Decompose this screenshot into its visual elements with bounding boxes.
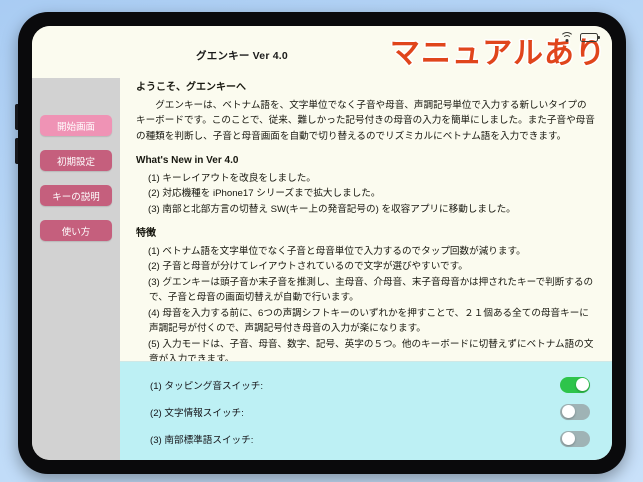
southern-standard-switch[interactable] (560, 431, 590, 447)
document-panel: ようこそ、グエンキーへ グエンキーは、ベトナム語を、文字単位でなく子音や母音、声… (120, 78, 612, 361)
whatsnew-list: (1) キーレイアウトを改良をしました。 (2) 対応機種を iPhone17 … (136, 171, 596, 218)
sidebar-item-key-description[interactable]: キーの説明 (40, 185, 112, 206)
wifi-icon (560, 32, 573, 42)
sidebar-item-start-screen[interactable]: 開始画面 (40, 115, 112, 136)
volume-up-button[interactable] (15, 104, 18, 130)
volume-down-button[interactable] (15, 138, 18, 164)
list-item: (3) 南部と北部方言の切替え SW(キー上の発音記号の) を収容アプリに移動し… (136, 202, 596, 218)
tapping-sound-switch[interactable] (560, 377, 590, 393)
switch-row: (2) 文字情報スイッチ: (134, 398, 598, 425)
whatsnew-heading: What's New in Ver 4.0 (136, 154, 596, 169)
ipad-device-frame: グエンキー Ver 4.0 マニュアルあり 開始画面 初期設定 キーの説明 使い… (18, 12, 626, 474)
sidebar-item-how-to-use[interactable]: 使い方 (40, 220, 112, 241)
app-body: 開始画面 初期設定 キーの説明 使い方 ようこそ、グエンキーへ グエンキーは、ベ… (32, 78, 612, 460)
list-item: (2) 対応機種を iPhone17 シリーズまで拡大しました。 (136, 186, 596, 202)
welcome-heading: ようこそ、グエンキーへ (136, 81, 596, 96)
list-item: (3) グエンキーは頭子音か末子音を推測し、主母音、介母音、末子音母音かは押され… (136, 275, 596, 306)
switch-panel: (1) タッピング音スイッチ: (2) 文字情報スイッチ: (3) 南部標準語ス… (120, 361, 612, 460)
list-item: (1) ベトナム語を文字単位でなく子音と母音単位で入力するのでタップ回数が減りま… (136, 244, 596, 260)
features-list: (1) ベトナム語を文字単位でなく子音と母音単位で入力するのでタップ回数が減りま… (136, 244, 596, 361)
switch-row: (1) タッピング音スイッチ: (134, 371, 598, 398)
tapping-sound-switch-label: (1) タッピング音スイッチ: (134, 378, 560, 392)
character-info-switch-label: (2) 文字情報スイッチ: (134, 405, 560, 419)
status-bar (32, 26, 612, 48)
welcome-body: グエンキーは、ベトナム語を、文字単位でなく子音や母音、声調記号単位で入力する新し… (136, 98, 596, 145)
list-item: (5) 入力モードは、子音、母音、数字、記号、英字の５つ。他のキーボードに切替え… (136, 337, 596, 361)
ipad-screen: グエンキー Ver 4.0 マニュアルあり 開始画面 初期設定 キーの説明 使い… (32, 26, 612, 460)
list-item: (4) 母音を入力する前に、6つの声調シフトキーのいずれかを押すことで、２１個あ… (136, 306, 596, 337)
list-item: (1) キーレイアウトを改良をしました。 (136, 171, 596, 187)
sidebar-item-initial-settings[interactable]: 初期設定 (40, 150, 112, 171)
content-column: ようこそ、グエンキーへ グエンキーは、ベトナム語を、文字単位でなく子音や母音、声… (120, 78, 612, 460)
switch-row: (3) 南部標準語スイッチ: (134, 425, 598, 452)
southern-standard-switch-label: (3) 南部標準語スイッチ: (134, 432, 560, 446)
character-info-switch[interactable] (560, 404, 590, 420)
sidebar: 開始画面 初期設定 キーの説明 使い方 (32, 78, 120, 460)
wallpaper-background: グエンキー Ver 4.0 マニュアルあり 開始画面 初期設定 キーの説明 使い… (0, 0, 643, 482)
list-item: (2) 子音と母音が分けてレイアウトされているので文字が選びやすいです。 (136, 259, 596, 275)
features-heading: 特徴 (136, 227, 596, 242)
battery-icon (580, 33, 598, 42)
